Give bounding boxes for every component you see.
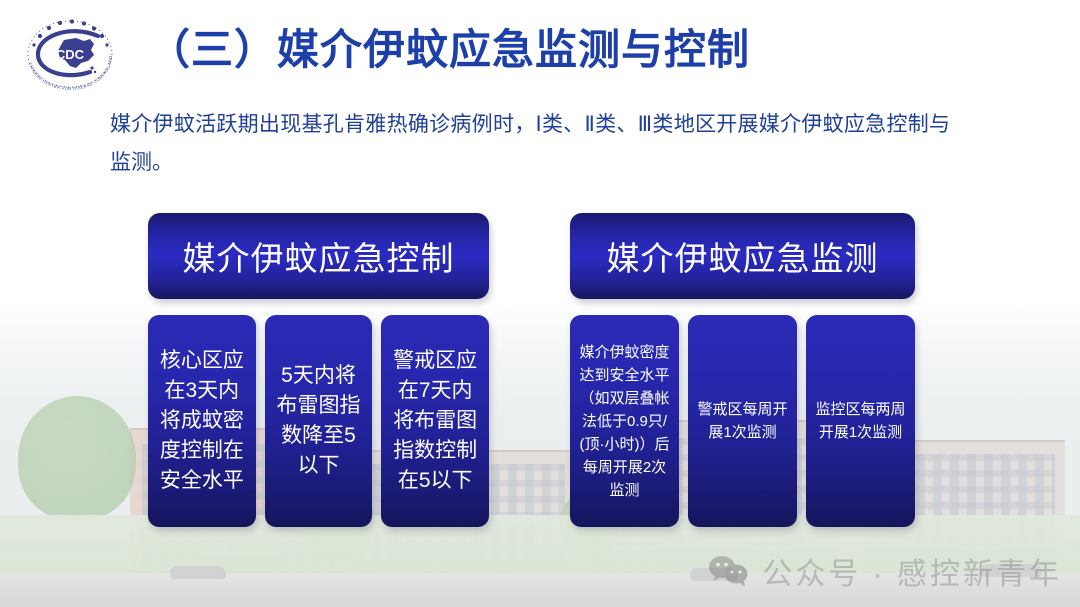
card-surveillance-monitor-zone-text: 监控区每两周开展1次监测 (813, 398, 908, 444)
background-car-1 (170, 566, 226, 579)
china-cdc-logo: CDC CHINESE CENTER FOR DISEASE CONTROL A… (18, 14, 122, 92)
card-surveillance-monitor-zone[interactable]: 监控区每两周开展1次监测 (806, 315, 915, 527)
card-control-warning-zone[interactable]: 警戒区应在7天内将布雷图指数控制在5以下 (381, 315, 489, 527)
card-control-warning-zone-text: 警戒区应在7天内将布雷图指数控制在5以下 (388, 346, 482, 496)
card-surveillance-safe-level[interactable]: 媒介伊蚊密度达到安全水平（如双层叠帐法低于0.9只/(顶·小时)）后每周开展2次… (570, 315, 679, 527)
watermark-text: 公众号 · 感控新青年 (762, 549, 1062, 593)
card-row-emergency-surveillance: 媒介伊蚊密度达到安全水平（如双层叠帐法低于0.9只/(顶·小时)）后每周开展2次… (570, 315, 915, 527)
card-surveillance-warning-zone-text: 警戒区每周开展1次监测 (695, 398, 790, 444)
logo-cdc-text: CDC (56, 47, 85, 62)
slide-header: CDC CHINESE CENTER FOR DISEASE CONTROL A… (0, 0, 1080, 100)
page-title: （三）媒介伊蚊应急监测与控制 (148, 25, 750, 75)
card-surveillance-warning-zone[interactable]: 警戒区每周开展1次监测 (688, 315, 797, 527)
card-surveillance-safe-level-text: 媒介伊蚊密度达到安全水平（如双层叠帐法低于0.9只/(顶·小时)）后每周开展2次… (577, 341, 672, 502)
card-row-emergency-control: 核心区应在3天内将成蚊密度控制在安全水平 5天内将布雷图指数降至5以下 警戒区应… (148, 315, 489, 527)
card-control-breteau-5days[interactable]: 5天内将布雷图指数降至5以下 (265, 315, 373, 527)
group-header-emergency-surveillance: 媒介伊蚊应急监测 (570, 213, 915, 299)
card-control-breteau-5days-text: 5天内将布雷图指数降至5以下 (272, 361, 366, 481)
card-control-core-zone-text: 核心区应在3天内将成蚊密度控制在安全水平 (155, 346, 249, 496)
intro-paragraph: 媒介伊蚊活跃期出现基孔肯雅热确诊病例时，Ⅰ类、Ⅱ类、Ⅲ类地区开展媒介伊蚊应急控制… (110, 106, 950, 182)
column-emergency-control: 媒介伊蚊应急控制 核心区应在3天内将成蚊密度控制在安全水平 5天内将布雷图指数降… (148, 213, 489, 527)
group-header-emergency-control: 媒介伊蚊应急控制 (148, 213, 489, 299)
slide-canvas: CDC CHINESE CENTER FOR DISEASE CONTROL A… (0, 0, 1080, 607)
column-emergency-surveillance: 媒介伊蚊应急监测 媒介伊蚊密度达到安全水平（如双层叠帐法低于0.9只/(顶·小时… (570, 213, 915, 527)
wechat-icon (708, 554, 750, 588)
watermark: 公众号 · 感控新青年 (708, 549, 1062, 593)
background-tree-1 (18, 396, 136, 520)
card-control-core-zone[interactable]: 核心区应在3天内将成蚊密度控制在安全水平 (148, 315, 256, 527)
